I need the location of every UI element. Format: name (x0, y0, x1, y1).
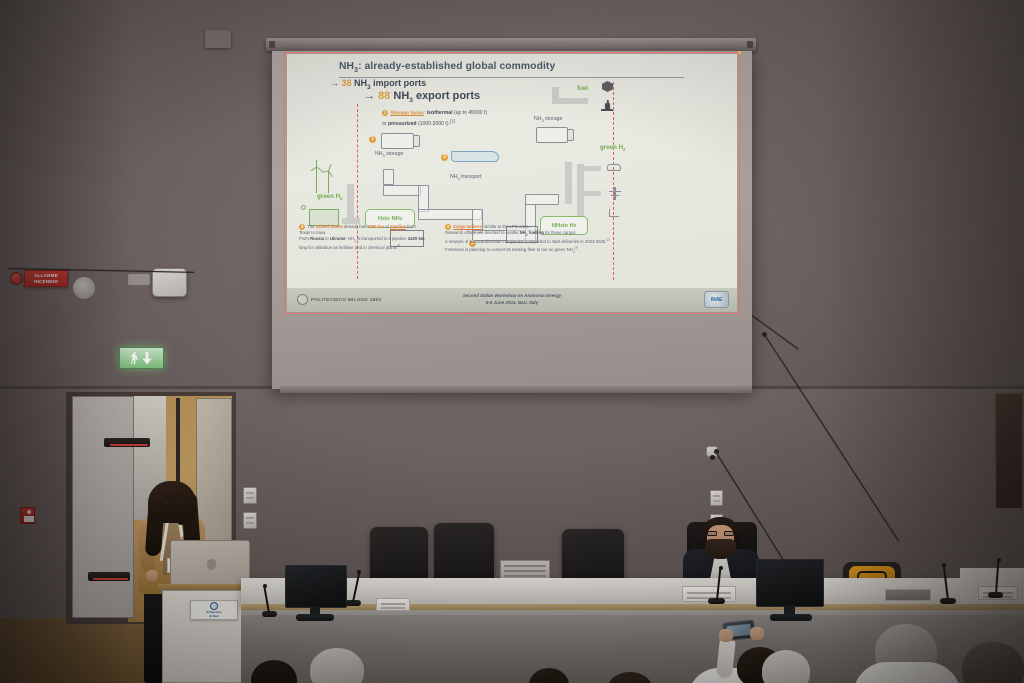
nh3-storage-cap-right (567, 129, 574, 141)
h2-arrow-grid (583, 191, 601, 196)
nh3-storage-cap-left (413, 135, 420, 147)
shadow-left (0, 0, 130, 683)
chair-3[interactable] (562, 529, 624, 585)
mic-head-1 (357, 570, 361, 574)
monitor-left-screen (285, 565, 347, 608)
sun-icon (301, 205, 306, 210)
marker-2-circle: 2 (441, 154, 448, 161)
access-point-mount (128, 274, 150, 285)
up-arrow-left (347, 184, 354, 218)
import-port-label: NH3 import ports (354, 78, 426, 88)
slide-bullet-import: → 38 NH3 import ports (330, 78, 426, 91)
fuel-arrow-up (552, 87, 559, 101)
arrow-icon: → (364, 90, 375, 102)
monitor-right[interactable] (756, 559, 824, 607)
power-pylon-icon (609, 187, 621, 200)
projected-slide: NH3: already-established global commodit… (287, 54, 737, 312)
down-arrow-icon (141, 352, 153, 365)
green-h2-left-label: green H2 (317, 193, 343, 201)
photographer-hand-left (719, 629, 733, 642)
nh3-storage-tank-right-icon (536, 127, 568, 143)
nh3-storage-tank-left-icon (381, 133, 414, 149)
wind-turbine-icon (309, 159, 339, 193)
slide-text-block-right: 2Cargo tankers: similar to the LPG ones.… (445, 224, 623, 254)
pipeline-segment-8 (525, 194, 559, 205)
podium-sign-line2: di Bari (210, 615, 219, 618)
fuel-label: fuel (577, 85, 588, 92)
chair-1[interactable] (370, 527, 428, 585)
screen-roller-housing (266, 38, 756, 51)
arrow-icon: → (330, 78, 339, 88)
mic-head-3 (719, 566, 723, 570)
import-port-count: 38 (342, 78, 352, 88)
nh3-transport-label: NH3 transport (450, 174, 482, 181)
event-line-1: Second Italian Workshop on Ammonia Energ… (287, 293, 737, 300)
h2-arrow-car (583, 166, 601, 171)
panelist-glasses-icon (707, 531, 734, 536)
export-port-label: NH3 export ports (393, 90, 480, 102)
shadow-right (824, 0, 1024, 683)
slide-bullet-export: → 88 NH3 export ports (364, 90, 480, 104)
divider-dashed-left (357, 104, 358, 279)
presenter-laptop[interactable] (170, 540, 250, 588)
marker-2-icon: 2 (445, 224, 451, 230)
chair-2[interactable] (434, 523, 494, 583)
cargo-ship-icon (451, 151, 499, 162)
industry-chart-icon (609, 209, 619, 217)
speaker-glasses-icon (163, 499, 185, 505)
screen-wall-bracket (205, 30, 231, 48)
h2-arrow-vertical (577, 164, 584, 216)
conference-room-scene: ALLARME INCENDIO NH3: already-establishe… (0, 0, 1024, 683)
speaker-hand-left (146, 570, 158, 581)
name-plate-left (376, 598, 410, 611)
fuel-cube-icon (602, 81, 613, 92)
nh3-storage-right-label: NH3 storage (534, 116, 562, 123)
institution-seal-icon (210, 602, 218, 610)
slide-text-block-left: 3The United States already has 3060 km o… (299, 224, 427, 251)
marker-1-circle: 1 (369, 136, 376, 143)
export-port-count: 88 (378, 90, 390, 102)
green-h2-right-label: green H2 (600, 144, 626, 152)
event-info: Second Italian Workshop on Ammonia Energ… (287, 293, 737, 307)
car-icon (607, 164, 621, 171)
storage-tanks-label: Storage tanks (390, 110, 424, 116)
pipeline-segment-3 (418, 185, 429, 212)
monitor-left-base (296, 614, 334, 621)
marker-3-icon: 3 (299, 224, 305, 230)
slide-footer: POLITECNICO MILANO 1863 Second Italian W… (287, 288, 737, 312)
screen-bottom-bar (280, 386, 752, 393)
mic-head-2 (263, 584, 267, 588)
running-person-icon (130, 352, 139, 365)
monitor-left[interactable] (285, 565, 347, 608)
laptop-logo-icon (207, 559, 216, 570)
pipeline-segment-1 (383, 169, 394, 185)
slide-title: NH3: already-established global commodit… (339, 61, 684, 78)
event-line-2: 5-6 June 2024, Bari, Italy (287, 300, 737, 307)
light-switch-plate-2[interactable] (243, 512, 257, 529)
socket-plate-3[interactable] (710, 490, 723, 506)
cargo-tankers-text: Cargo tankers: similar to the LPG ones.R… (445, 224, 609, 251)
monitor-right-base (770, 614, 812, 621)
down-arrow-right (565, 162, 572, 204)
pipeline-segment-2 (383, 185, 421, 196)
light-switch-plate-1[interactable] (243, 487, 257, 504)
nh3-storage-left-label: NH3 storage (375, 151, 403, 158)
pipeline-text: The United States already has 3060 km of… (299, 224, 425, 250)
monitor-right-screen (756, 559, 824, 607)
podium-institution-sign: Politecnico di Bari (190, 600, 238, 620)
slide-note-storage: 1Storage tanks: isothermal (up to 45000 … (382, 110, 557, 128)
marker-1-icon: 1 (382, 110, 388, 116)
event-badge: IWAE (704, 291, 729, 308)
photographer-hand-right (750, 627, 764, 640)
